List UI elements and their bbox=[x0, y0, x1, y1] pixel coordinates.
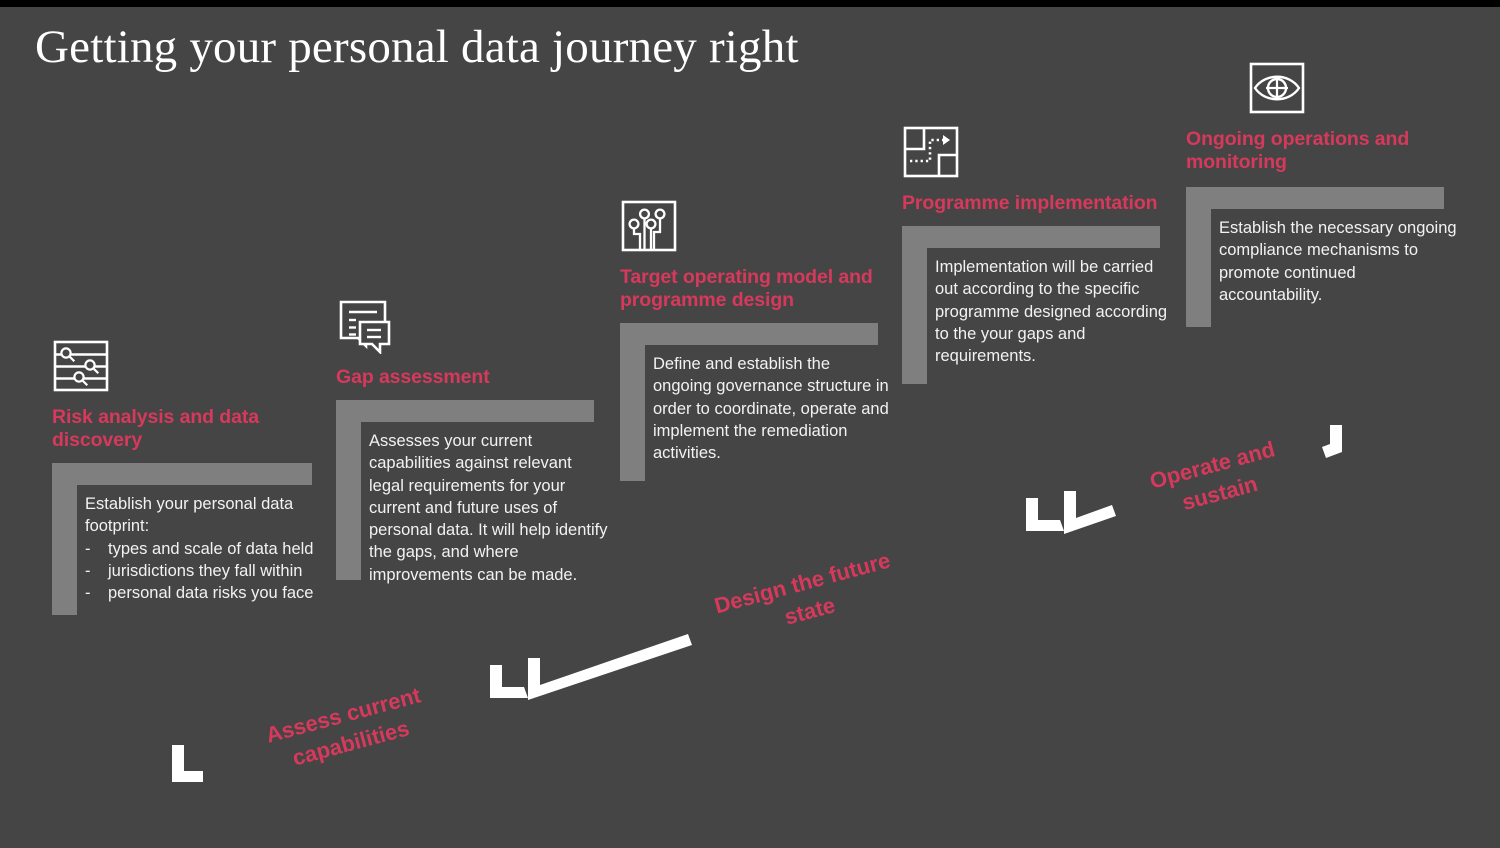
step-callout: Assesses your current capabilities again… bbox=[336, 400, 608, 586]
document-lines-magnifier-icon bbox=[52, 340, 110, 394]
step-text: Implementation will be carried out accor… bbox=[935, 256, 1174, 367]
arrow-tick bbox=[172, 745, 203, 782]
step-callout: Establish your personal data footprint: … bbox=[52, 463, 324, 615]
step-callout: Implementation will be carried out accor… bbox=[902, 226, 1174, 384]
page-title: Getting your personal data journey right bbox=[35, 18, 799, 76]
bullet-dash: - bbox=[85, 582, 91, 604]
step-callout: Establish the necessary ongoing complian… bbox=[1186, 187, 1458, 327]
list-item: -types and scale of data held bbox=[85, 538, 324, 560]
arrow-segment bbox=[1026, 498, 1064, 531]
circuit-network-icon bbox=[620, 200, 678, 254]
step-risk-analysis: Risk analysis and data discovery Establi… bbox=[52, 340, 324, 615]
phase-label-operate: Operate and sustain bbox=[1131, 430, 1301, 527]
arrow-segment bbox=[1064, 491, 1116, 534]
step-text: Assesses your current capabilities again… bbox=[369, 430, 608, 586]
step-body: Assesses your current capabilities again… bbox=[336, 400, 608, 586]
step-heading: Programme implementation bbox=[902, 192, 1174, 215]
step-intro: Establish your personal data footprint: bbox=[85, 493, 324, 538]
bullet-text: types and scale of data held bbox=[108, 540, 313, 558]
dotted-path-arrow-icon bbox=[902, 126, 960, 180]
step-callout: Define and establish the ongoing governa… bbox=[620, 323, 892, 481]
step-body: Establish the necessary ongoing complian… bbox=[1186, 187, 1458, 306]
step-target-operating-model: Target operating model and programme des… bbox=[620, 200, 892, 481]
phase-label-assess: Assess current capabilities bbox=[248, 676, 447, 781]
top-black-bar bbox=[0, 0, 1500, 7]
step-text: Define and establish the ongoing governa… bbox=[653, 353, 892, 464]
step-body: Establish your personal data footprint: … bbox=[52, 463, 324, 604]
two-speech-bubbles-icon bbox=[336, 300, 394, 354]
step-gap-assessment: Gap assessment Assesses your current cap… bbox=[336, 300, 608, 586]
step-body: Implementation will be carried out accor… bbox=[902, 226, 1174, 367]
arrow-segment bbox=[528, 634, 692, 700]
step-heading: Target operating model and programme des… bbox=[620, 266, 892, 312]
arrow-segment bbox=[490, 665, 528, 698]
list-item: -personal data risks you face bbox=[85, 582, 324, 604]
step-ongoing-operations: Ongoing operations and monitoring Establ… bbox=[1186, 62, 1458, 327]
bullet-text: jurisdictions they fall within bbox=[108, 562, 302, 580]
step-heading: Gap assessment bbox=[336, 366, 608, 389]
step-bullets: -types and scale of data held -jurisdict… bbox=[85, 538, 324, 605]
eye-crosshair-icon bbox=[1248, 62, 1306, 116]
step-body: Define and establish the ongoing governa… bbox=[620, 323, 892, 464]
step-text: Establish the necessary ongoing complian… bbox=[1219, 217, 1458, 306]
step-programme-implementation: Programme implementation Implementation … bbox=[902, 126, 1174, 384]
arrow-tick bbox=[1322, 425, 1342, 458]
bullet-dash: - bbox=[85, 538, 91, 560]
step-heading: Ongoing operations and monitoring bbox=[1186, 128, 1458, 174]
phase-label-design: Design the future state bbox=[702, 543, 910, 651]
bullet-dash: - bbox=[85, 560, 91, 582]
step-heading: Risk analysis and data discovery bbox=[52, 406, 324, 452]
bullet-text: personal data risks you face bbox=[108, 584, 313, 602]
list-item: -jurisdictions they fall within bbox=[85, 560, 324, 582]
